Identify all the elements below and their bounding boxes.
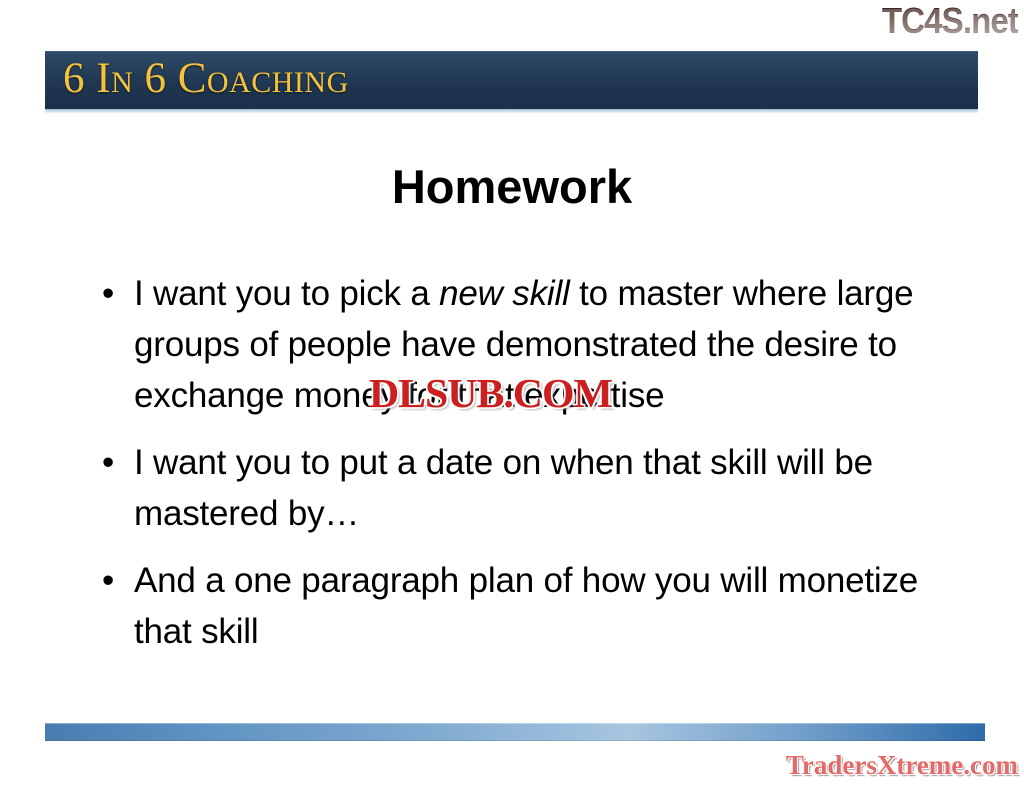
footer-bar: [45, 723, 985, 741]
bullet-text-prefix: I want you to put a date on when that sk…: [134, 443, 873, 533]
bullet-list: • I want you to pick a new skill to mast…: [96, 268, 956, 657]
presentation-slide: TC4S.net 6 In 6 Coaching Homework • I wa…: [0, 0, 1024, 791]
banner-title: 6 In 6 Coaching: [63, 55, 349, 103]
bullet-text-emphasis: new skill: [439, 274, 569, 313]
page-title: Homework: [0, 159, 1024, 215]
header-banner: 6 In 6 Coaching: [45, 51, 978, 109]
list-item: • And a one paragraph plan of how you wi…: [96, 555, 956, 657]
tradersxtreme-watermark: TradersXtreme.com: [786, 749, 1018, 781]
dlsub-watermark: DLSUB.COM: [369, 370, 612, 416]
bullet-marker: •: [102, 268, 114, 319]
bullet-text-prefix: And a one paragraph plan of how you will…: [134, 561, 918, 651]
tc4s-watermark: TC4S.net: [882, 1, 1018, 41]
bullet-marker: •: [102, 437, 114, 488]
list-item: • I want you to put a date on when that …: [96, 437, 956, 539]
banner-underline: [45, 109, 978, 113]
bullet-text-prefix: I want you to pick a: [134, 274, 439, 313]
bullet-marker: •: [102, 555, 114, 606]
